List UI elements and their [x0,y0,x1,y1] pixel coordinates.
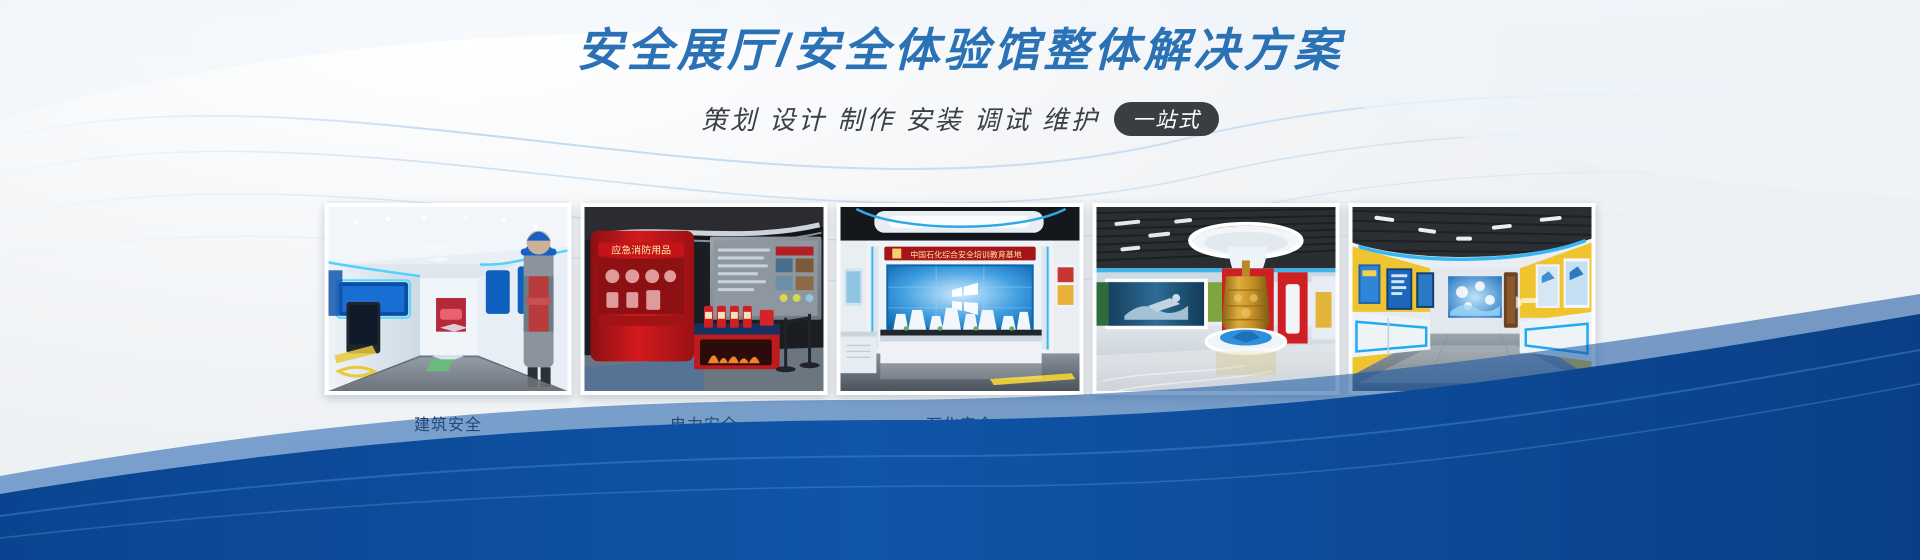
bottom-blue-wave [0,280,1920,560]
svg-text:中国石化综合安全培训教育基地: 中国石化综合安全培训教育基地 [910,249,1022,259]
one-stop-badge: 一站式 [1114,102,1219,136]
subtitle-text: 策划 设计 制作 安装 调试 维护 [701,100,1100,137]
banner-stage: 安全展厅/安全体验馆整体解决方案 策划 设计 制作 安装 调试 维护 一站式 [0,0,1920,560]
svg-text:应急消防用品: 应急消防用品 [611,244,671,257]
title-block: 安全展厅/安全体验馆整体解决方案 [0,24,1920,77]
page-title: 安全展厅/安全体验馆整体解决方案 [577,24,1344,77]
subtitle-block: 策划 设计 制作 安装 调试 维护 一站式 [0,100,1920,137]
